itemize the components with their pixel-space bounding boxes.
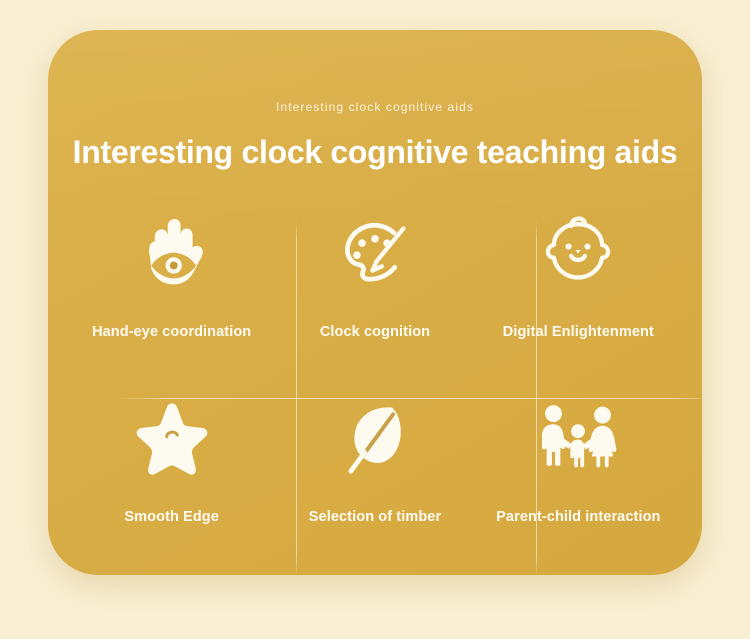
feature-label: Smooth Edge <box>124 509 219 525</box>
star-icon <box>124 387 220 483</box>
feature-cell-digital-enlightenment[interactable]: Digital Enlightenment <box>477 180 680 365</box>
hand-eye-icon <box>124 202 220 298</box>
feature-label: Clock cognition <box>320 324 430 340</box>
grid-divider-vertical-1 <box>296 220 297 575</box>
paint-palette-icon <box>327 202 423 298</box>
feature-label: Digital Enlightenment <box>503 324 654 340</box>
leaf-icon <box>327 387 423 483</box>
baby-face-icon <box>530 202 626 298</box>
feature-card: Interesting clock cognitive aids Interes… <box>48 30 702 575</box>
feature-cell-selection-of-timber[interactable]: Selection of timber <box>273 365 476 550</box>
grid-divider-horizontal <box>118 398 702 399</box>
feature-label: Selection of timber <box>309 509 441 525</box>
feature-cell-smooth-edge[interactable]: Smooth Edge <box>70 365 273 550</box>
card-eyebrow: Interesting clock cognitive aids <box>48 100 702 114</box>
feature-cell-hand-eye-coordination[interactable]: Hand-eye coordination <box>70 180 273 365</box>
feature-label: Hand-eye coordination <box>92 324 251 340</box>
page-canvas: Interesting clock cognitive aids Interes… <box>0 0 750 639</box>
feature-label: Parent-child interaction <box>496 509 660 525</box>
page-title: Interesting clock cognitive teaching aid… <box>48 134 702 171</box>
family-icon <box>530 387 626 483</box>
feature-cell-clock-cognition[interactable]: Clock cognition <box>273 180 476 365</box>
grid-divider-vertical-2 <box>536 220 537 575</box>
feature-cell-parent-child-interaction[interactable]: Parent-child interaction <box>477 365 680 550</box>
feature-grid: Hand-eye coordination <box>70 180 680 550</box>
